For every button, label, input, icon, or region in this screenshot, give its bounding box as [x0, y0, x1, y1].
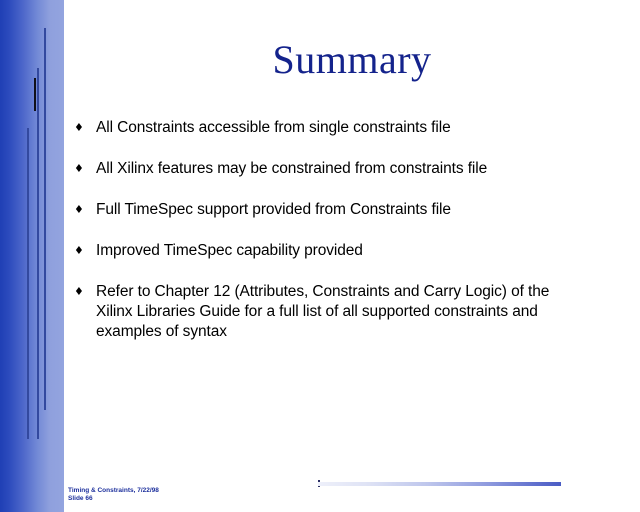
list-item: ♦ Improved TimeSpec capability provided [72, 241, 617, 261]
bottom-gradient-rule [318, 482, 561, 486]
sidebar-accent-line-outer [44, 28, 46, 410]
list-item: ♦ All Constraints accessible from single… [72, 118, 617, 138]
diamond-bullet-icon: ♦ [72, 159, 96, 179]
diamond-bullet-icon: ♦ [72, 118, 96, 138]
diamond-bullet-icon: ♦ [72, 200, 96, 220]
list-item-line: examples of syntax [96, 322, 617, 342]
list-item-label: Improved TimeSpec capability provided [96, 241, 617, 261]
diamond-bullet-icon: ♦ [72, 282, 96, 302]
list-item-label: Refer to Chapter 12 (Attributes, Constra… [96, 282, 617, 342]
bullet-list: ♦ All Constraints accessible from single… [72, 118, 617, 363]
sidebar-accent-line-middle [37, 68, 39, 439]
sidebar-gradient-band [0, 0, 64, 512]
sidebar-accent-line-inner [27, 128, 29, 439]
slide-title: Summary [64, 36, 640, 83]
list-item-line: Refer to Chapter 12 (Attributes, Constra… [96, 282, 617, 302]
list-item-line: Xilinx Libraries Guide for a full list o… [96, 302, 617, 322]
list-item-label: All Xilinx features may be constrained f… [96, 159, 617, 179]
list-item-label: All Constraints accessible from single c… [96, 118, 617, 138]
diamond-bullet-icon: ♦ [72, 241, 96, 261]
footer-slide-number: Slide 66 [68, 495, 159, 503]
list-item-label: Full TimeSpec support provided from Cons… [96, 200, 617, 220]
list-item: ♦ Full TimeSpec support provided from Co… [72, 200, 617, 220]
footer-deck-title: Timing & Constraints, 7/22/98 [68, 487, 159, 495]
slide-footer: Timing & Constraints, 7/22/98 Slide 66 [68, 487, 159, 503]
list-item: ♦ All Xilinx features may be constrained… [72, 159, 617, 179]
slide-canvas: Summary ♦ All Constraints accessible fro… [0, 0, 640, 512]
list-item: ♦ Refer to Chapter 12 (Attributes, Const… [72, 282, 617, 342]
sidebar-accent-line-dark [34, 78, 36, 111]
